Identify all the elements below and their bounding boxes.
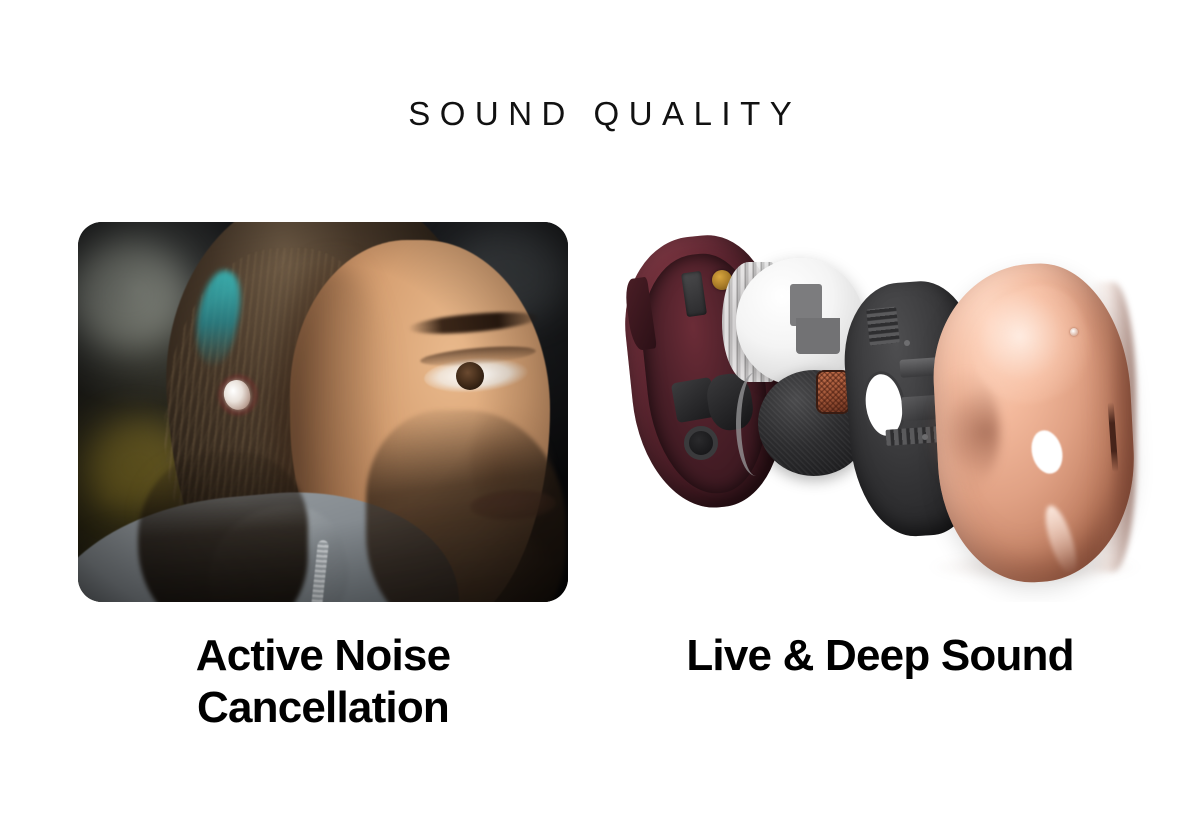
caption-line-1: Live & Deep Sound [600,630,1160,682]
anc-lifestyle-photo [78,222,568,602]
earbud-exploded-view-image [600,222,1160,602]
product-feature-section: SOUND QUALITY [0,0,1200,825]
hair-foreground-left [138,452,308,602]
section-title: SOUND QUALITY [0,92,1200,136]
caption-line-2: Cancellation [78,682,568,734]
rose-gold-waist-shadow [930,372,1000,492]
feature-active-noise-cancellation: Active Noise Cancellation [78,222,568,734]
internal-black-ring [684,426,718,460]
circuit-screw-1 [904,340,910,346]
microphone-hole [1070,328,1078,336]
circuit-chip-c [866,307,900,346]
feature-grid: Active Noise Cancellation [0,222,1200,742]
feature-caption-anc: Active Noise Cancellation [78,630,568,734]
feature-live-deep-sound: Live & Deep Sound [600,222,1160,682]
feature-caption-live-deep-sound: Live & Deep Sound [600,630,1160,682]
caption-line-1: Active Noise [78,630,568,682]
iris [456,362,484,390]
driver-tab-lower [796,318,840,354]
circuit-screw-2 [922,434,928,440]
